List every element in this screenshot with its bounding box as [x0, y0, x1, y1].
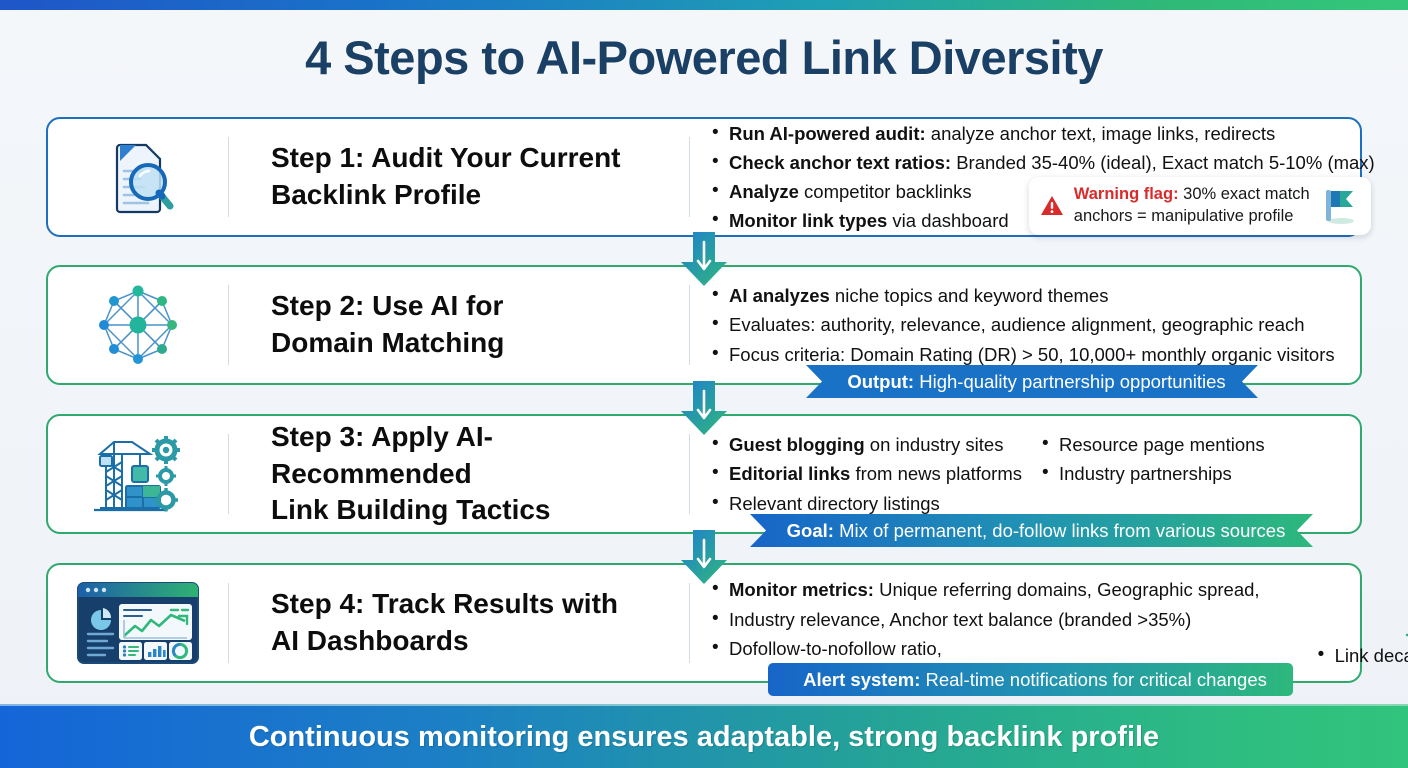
list-item: AI analyzes niche topics and keyword the… [712, 281, 1346, 310]
list-item: Monitor metrics: Unique referring domain… [712, 575, 1260, 604]
step-3-bullets: Guest blogging on industry sites Editori… [712, 430, 1346, 518]
step-3-bullets-col-b: Resource page mentions Industry partners… [1042, 430, 1346, 518]
step-4-title-line1: Step 4: Track Results with [271, 588, 618, 619]
step-3-title-line2: Link Building Tactics [271, 494, 551, 525]
step-4-title: Step 4: Track Results with AI Dashboards [271, 586, 618, 660]
list-item: Guest blogging on industry sites [712, 430, 1042, 459]
alert-ribbon: Alert system: Real-time notifications fo… [768, 663, 1293, 696]
alert-ribbon-text: Alert system: Real-time notifications fo… [803, 669, 1267, 691]
step-1-title-zone: Step 1: Audit Your Current Backlink Prof… [229, 119, 689, 235]
step-1-bullet-zone: Run AI-powered audit: analyze anchor tex… [690, 119, 1389, 235]
siren-light-icon [1403, 609, 1408, 672]
step-1-icon-zone [48, 119, 228, 235]
document-magnifier-icon [96, 135, 180, 219]
top-gradient-bar [0, 0, 1408, 10]
step-2-title-line2: Domain Matching [271, 327, 504, 358]
connector-arrow-3 [675, 530, 733, 586]
step-3-bullets-col-a: Guest blogging on industry sites Editori… [712, 430, 1042, 518]
list-item: Check anchor text ratios: Branded 35-40%… [712, 148, 1375, 177]
step-1-title-line2: Backlink Profile [271, 179, 481, 210]
step-4-bullets-col-b: Link decay impact [1260, 575, 1408, 670]
list-item: Relevant directory listings [712, 489, 1042, 518]
step-3-title: Step 3: Apply AI-Recommended Link Buildi… [271, 419, 689, 530]
list-item: Dofollow-to-nofollow ratio, [712, 634, 1260, 663]
warning-badge: Warning flag: 30% exact match anchors = … [1029, 177, 1371, 235]
step-2-title: Step 2: Use AI for Domain Matching [271, 288, 504, 362]
goal-ribbon-text: Goal: Mix of permanent, do-follow links … [787, 520, 1286, 542]
list-item: Resource page mentions [1042, 430, 1346, 459]
down-arrow-icon [675, 530, 733, 586]
warning-badge-label: Warning flag: [1074, 185, 1179, 203]
step-2-title-zone: Step 2: Use AI for Domain Matching [229, 267, 689, 383]
step-3-title-zone: Step 3: Apply AI-Recommended Link Buildi… [229, 416, 689, 532]
dashboard-charts-icon [75, 578, 201, 668]
footer-banner: Continuous monitoring ensures adaptable,… [0, 706, 1408, 768]
flag-icon [1319, 187, 1359, 225]
output-ribbon: Output: High-quality partnership opportu… [806, 365, 1258, 398]
down-arrow-icon [675, 232, 733, 288]
warning-badge-text: Warning flag: 30% exact match anchors = … [1074, 184, 1310, 228]
step-1-title: Step 1: Audit Your Current Backlink Prof… [271, 140, 621, 214]
list-item: Focus criteria: Domain Rating (DR) > 50,… [712, 340, 1346, 369]
footer-text: Continuous monitoring ensures adaptable,… [249, 721, 1159, 754]
page-title: 4 Steps to AI-Powered Link Diversity [0, 30, 1408, 85]
step-4-title-line2: AI Dashboards [271, 625, 469, 656]
crane-gears-icon [92, 430, 184, 518]
down-arrow-icon [675, 381, 733, 437]
network-graph-icon [94, 281, 182, 369]
step-2-icon-zone [48, 267, 228, 383]
connector-arrow-2 [675, 381, 733, 437]
infographic-page: 4 Steps to AI-Powered Link Diversity [0, 0, 1408, 768]
goal-ribbon: Goal: Mix of permanent, do-follow links … [750, 514, 1313, 547]
step-3-icon-zone [48, 416, 228, 532]
step-2-bullets: AI analyzes niche topics and keyword the… [712, 281, 1346, 369]
list-item: Link decay impact [1318, 641, 1408, 670]
warning-badge-line2: anchors = manipulative profile [1074, 207, 1294, 225]
output-ribbon-text: Output: High-quality partnership opportu… [847, 371, 1225, 393]
step-4-icon-zone [48, 565, 228, 681]
step-1-title-line1: Step 1: Audit Your Current [271, 142, 621, 173]
connector-arrow-1 [675, 232, 733, 288]
step-2-title-line1: Step 2: Use AI for [271, 290, 503, 321]
step-3-title-line1: Step 3: Apply AI-Recommended [271, 421, 493, 489]
step-4-bullets: Monitor metrics: Unique referring domain… [712, 575, 1408, 670]
warning-triangle-icon [1039, 193, 1065, 219]
list-item: Run AI-powered audit: analyze anchor tex… [712, 119, 1375, 148]
step-4-title-zone: Step 4: Track Results with AI Dashboards [229, 565, 689, 681]
list-item: Editorial links from news platforms [712, 459, 1042, 488]
list-item: Industry partnerships [1042, 459, 1346, 488]
step-4-bullets-col-a: Monitor metrics: Unique referring domain… [712, 575, 1260, 670]
list-item: Industry relevance, Anchor text balance … [712, 605, 1260, 634]
step-card-1: Step 1: Audit Your Current Backlink Prof… [46, 117, 1362, 237]
list-item: Evaluates: authority, relevance, audienc… [712, 310, 1346, 339]
